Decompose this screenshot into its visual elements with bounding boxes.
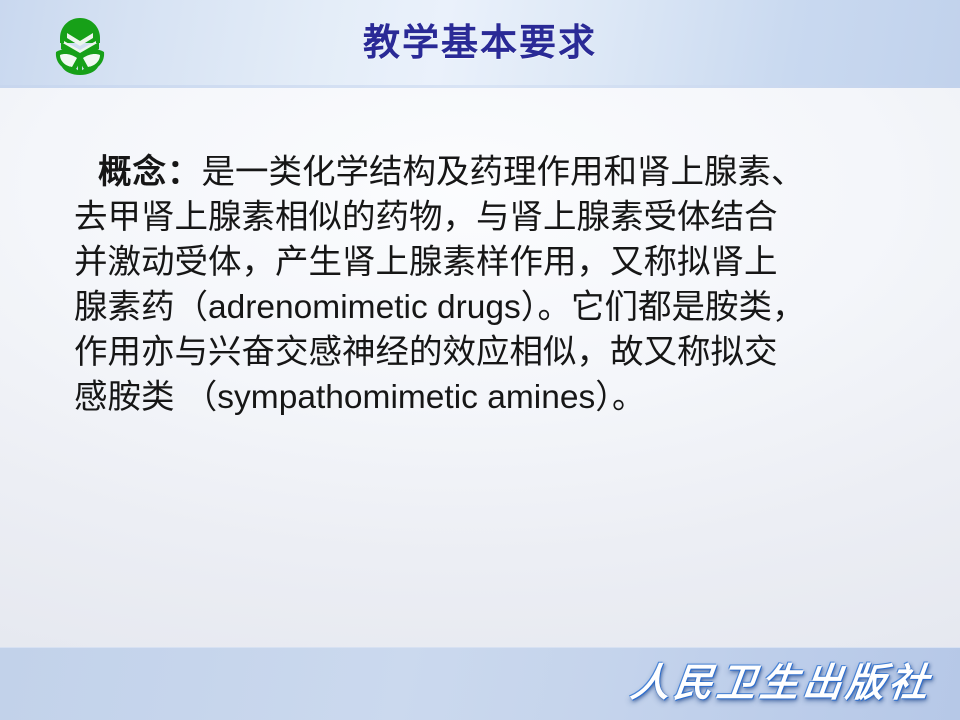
slide-footer: 人民卫生出版社 bbox=[0, 647, 960, 720]
slide-header: 教学基本要求 bbox=[0, 0, 960, 88]
slide: 教学基本要求 概念：是一类化学结构及药理作用和肾上腺素、 去甲肾上腺素相似的药物… bbox=[0, 0, 960, 720]
page-title: 教学基本要求 bbox=[0, 17, 960, 69]
body-line-3: 并激动受体，产生肾上腺素样作用，又称拟肾上 bbox=[74, 240, 904, 285]
concept-label: 概念： bbox=[98, 154, 202, 191]
concept-paragraph: 概念：是一类化学结构及药理作用和肾上腺素、 去甲肾上腺素相似的药物，与肾上腺素受… bbox=[74, 150, 904, 420]
body-line-2: 去甲肾上腺素相似的药物，与肾上腺素受体结合 bbox=[74, 195, 904, 240]
slide-body: 概念：是一类化学结构及药理作用和肾上腺素、 去甲肾上腺素相似的药物，与肾上腺素受… bbox=[74, 150, 904, 420]
body-line-5: 作用亦与兴奋交感神经的效应相似，故又称拟交 bbox=[74, 330, 904, 375]
publisher-brand: 人民卫生出版社 bbox=[627, 654, 935, 712]
body-line-1-text: 是一类化学结构及药理作用和肾上腺素、 bbox=[202, 154, 805, 191]
body-line-1: 概念：是一类化学结构及药理作用和肾上腺素、 bbox=[74, 150, 904, 195]
body-line-4: 腺素药（adrenomimetic drugs）。它们都是胺类， bbox=[74, 285, 904, 330]
body-line-6: 感胺类 （sympathomimetic amines）。 bbox=[74, 375, 904, 420]
